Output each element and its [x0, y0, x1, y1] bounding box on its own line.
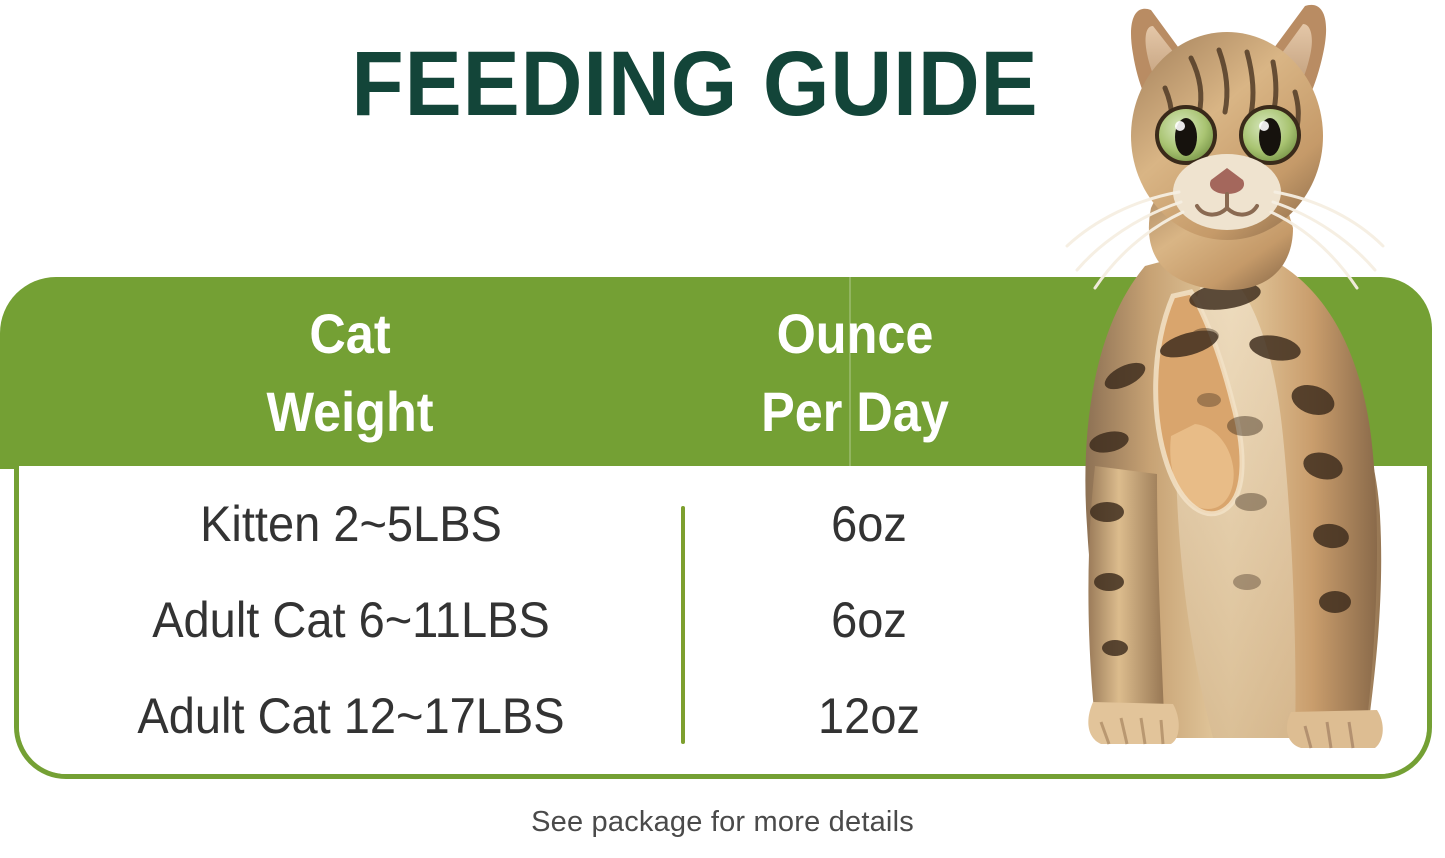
column-header-ounce-per-day: Ounce Per Day [644, 295, 1067, 452]
cell-cat-weight: Adult Cat 12~17LBS [50, 668, 652, 764]
cell-cat-weight: Kitten 2~5LBS [50, 476, 652, 572]
cell-cat-weight: Adult Cat 6~11LBS [50, 572, 652, 668]
feeding-guide-infographic: FEEDING GUIDE Cat Weight Ounce Per Day K… [0, 0, 1445, 858]
column-header-cat-weight-line2: Weight [134, 373, 566, 451]
table-header-band: Cat Weight Ounce Per Day [0, 277, 1432, 469]
table-row: Kitten 2~5LBS 6oz [19, 476, 1019, 572]
table-row: Adult Cat 6~11LBS 6oz [19, 572, 1019, 668]
cell-ounce-per-day: 6oz [702, 476, 1037, 572]
column-header-cat-weight-line1: Cat [309, 302, 390, 365]
table-body: Kitten 2~5LBS 6oz Adult Cat 6~11LBS 6oz … [19, 466, 1427, 774]
column-header-ounce-per-day-line1: Ounce [777, 302, 934, 365]
column-header-cat-weight: Cat Weight [134, 295, 566, 452]
column-header-ounce-per-day-line2: Per Day [644, 373, 1067, 451]
table-row: Adult Cat 12~17LBS 12oz [19, 668, 1019, 764]
cell-ounce-per-day: 12oz [702, 668, 1037, 764]
page-title: FEEDING GUIDE [49, 38, 1342, 130]
footer-note: See package for more details [0, 806, 1445, 839]
cell-ounce-per-day: 6oz [702, 572, 1037, 668]
